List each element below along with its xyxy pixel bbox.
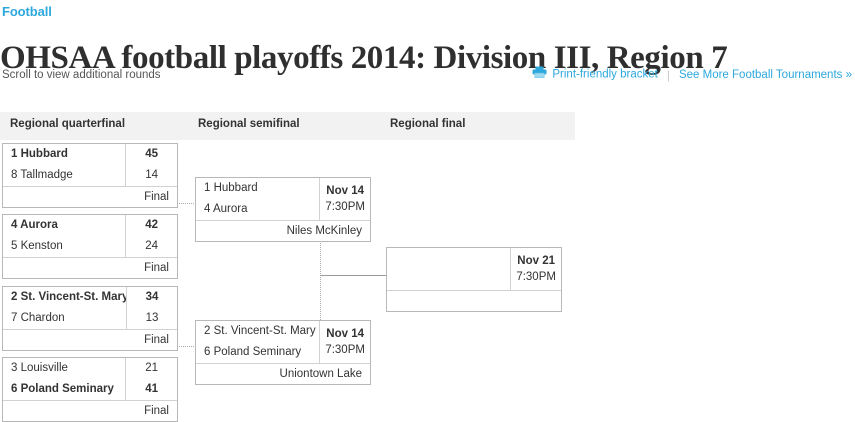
team-name: 4 Aurora (3, 215, 125, 236)
team-name: 4 Aurora (196, 199, 319, 220)
matchup-status: Final (3, 329, 177, 350)
connector-semifinals-to-final (320, 275, 386, 276)
scroll-hint: Scroll to view additional rounds (2, 69, 161, 81)
link-separator: | (667, 68, 670, 82)
round-header-regional-quarterfinal: Regional quarterfinal (10, 118, 125, 130)
printer-icon (532, 66, 547, 81)
section-kicker-football[interactable]: Football (2, 4, 52, 19)
team-score: 42 (126, 215, 177, 236)
team-score: 14 (126, 165, 177, 186)
header-links: Print-friendly bracket | See More Footba… (532, 67, 852, 82)
team-name: 3 Louisville (3, 358, 125, 379)
team-scores: 21 41 (126, 358, 177, 400)
team-name: 1 Hubbard (3, 144, 125, 165)
matchup-date: Nov 14 (326, 183, 364, 199)
team-names: 1 Hubbard 8 Tallmadge (3, 144, 126, 186)
team-name: 2 St. Vincent-St. Mary (3, 287, 126, 308)
matchup-regional-final[interactable]: Nov 21 7:30PM (386, 247, 562, 312)
team-score: 21 (126, 358, 177, 379)
matchup-quarterfinal-2[interactable]: 4 Aurora 5 Kenston 42 24 Final (2, 214, 178, 279)
round-header-regional-final: Regional final (390, 118, 465, 130)
matchup-semifinal-2[interactable]: 2 St. Vincent-St. Mary 6 Poland Seminary… (195, 320, 371, 385)
team-name (387, 269, 510, 290)
matchup-venue (387, 290, 561, 311)
matchup-quarterfinal-3[interactable]: 2 St. Vincent-St. Mary 7 Chardon 34 13 F… (2, 286, 178, 351)
matchup-time: 7:30PM (516, 269, 556, 285)
team-names: 4 Aurora 5 Kenston (3, 215, 126, 257)
matchup-venue: Uniontown Lake (196, 363, 370, 384)
team-name: 7 Chardon (3, 308, 126, 329)
team-name: 8 Tallmadge (3, 165, 125, 186)
matchup-time: 7:30PM (325, 342, 365, 358)
bracket-page: Football OHSAA football playoffs 2014: D… (0, 0, 855, 418)
matchup-schedule: Nov 21 7:30PM (511, 248, 561, 290)
see-more-tournaments-link[interactable]: See More Football Tournaments » (679, 69, 852, 81)
team-scores: 45 14 (126, 144, 177, 186)
team-names: 2 St. Vincent-St. Mary 7 Chardon (3, 287, 127, 329)
team-name: 5 Kenston (3, 236, 125, 257)
matchup-date: Nov 14 (326, 326, 364, 342)
print-friendly-bracket-link[interactable]: Print-friendly bracket (532, 67, 657, 82)
team-name: 6 Poland Seminary (3, 379, 125, 400)
matchup-date: Nov 21 (517, 253, 555, 269)
matchup-time: 7:30PM (325, 199, 365, 215)
matchup-schedule: Nov 14 7:30PM (320, 178, 370, 220)
team-name: 2 St. Vincent-St. Mary (196, 321, 319, 342)
team-score: 45 (126, 144, 177, 165)
matchup-teams-row: 4 Aurora 5 Kenston 42 24 (3, 215, 177, 257)
team-name: 6 Poland Seminary (196, 342, 319, 363)
matchup-teams-row: Nov 21 7:30PM (387, 248, 561, 290)
matchup-quarterfinal-4[interactable]: 3 Louisville 6 Poland Seminary 21 41 Fin… (2, 357, 178, 422)
matchup-status: Final (3, 257, 177, 278)
team-scores: 42 24 (126, 215, 177, 257)
matchup-teams-row: 2 St. Vincent-St. Mary 6 Poland Seminary… (196, 321, 370, 363)
round-header-regional-semifinal: Regional semifinal (198, 118, 300, 130)
matchup-teams-row: 2 St. Vincent-St. Mary 7 Chardon 34 13 (3, 287, 177, 329)
team-scores: 34 13 (127, 287, 177, 329)
matchup-venue: Niles McKinley (196, 220, 370, 241)
matchup-schedule: Nov 14 7:30PM (320, 321, 370, 363)
print-friendly-bracket-label: Print-friendly bracket (552, 69, 657, 81)
team-names (387, 248, 511, 290)
matchup-teams-row: 3 Louisville 6 Poland Seminary 21 41 (3, 358, 177, 400)
team-score: 34 (127, 287, 177, 308)
team-score: 13 (127, 308, 177, 329)
team-score: 24 (126, 236, 177, 257)
team-names: 1 Hubbard 4 Aurora (196, 178, 320, 220)
team-score: 41 (126, 379, 177, 400)
matchup-status: Final (3, 186, 177, 207)
team-name (387, 248, 510, 269)
team-names: 3 Louisville 6 Poland Seminary (3, 358, 126, 400)
team-name: 1 Hubbard (196, 178, 319, 199)
matchup-semifinal-1[interactable]: 1 Hubbard 4 Aurora Nov 14 7:30PM Niles M… (195, 177, 371, 242)
matchup-teams-row: 1 Hubbard 4 Aurora Nov 14 7:30PM (196, 178, 370, 220)
team-names: 2 St. Vincent-St. Mary 6 Poland Seminary (196, 321, 320, 363)
matchup-quarterfinal-1[interactable]: 1 Hubbard 8 Tallmadge 45 14 Final (2, 143, 178, 208)
matchup-teams-row: 1 Hubbard 8 Tallmadge 45 14 (3, 144, 177, 186)
